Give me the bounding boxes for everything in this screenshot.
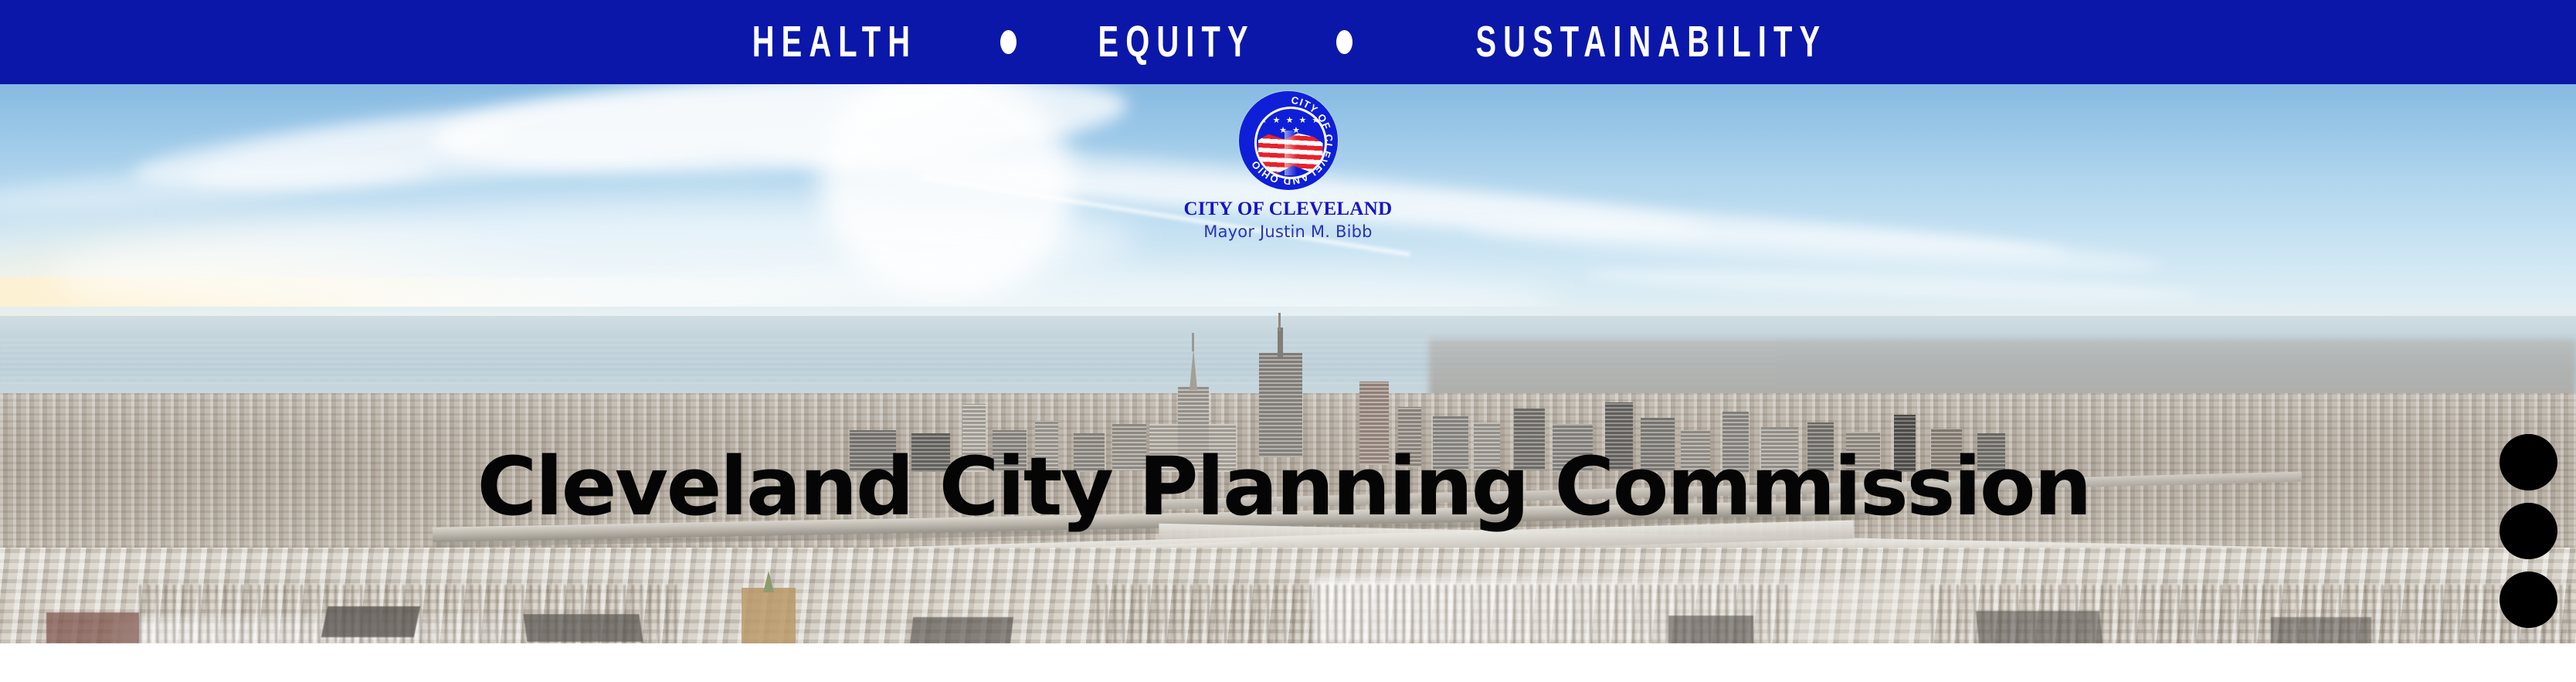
social-media-rail xyxy=(2500,434,2557,628)
mayor-name: Mayor Justin M. Bibb xyxy=(1203,222,1372,241)
flag-fold-highlight xyxy=(1285,131,1297,175)
rooftop-cluster xyxy=(1976,611,2103,643)
rooftop-cluster xyxy=(321,606,421,637)
seal-inner-disc: ★ ★ ★ ★ ★ ★ ★ xyxy=(1254,107,1327,179)
facebook-icon[interactable] xyxy=(2500,572,2557,628)
page-title: Cleveland City Planning Commission xyxy=(0,446,2571,527)
page-title-text: Cleveland City Planning Commission xyxy=(477,446,2090,527)
tagline-word-sustainability: SUSTAINABILITY xyxy=(1476,20,1828,64)
rooftop-cluster xyxy=(910,617,1013,643)
tagline-banner: HEALTH EQUITY SUSTAINABILITY xyxy=(0,0,2576,84)
rooftop-cluster xyxy=(523,614,643,642)
tagline-bullet-dot-2 xyxy=(1336,30,1352,54)
bottom-white-margin xyxy=(0,643,2576,682)
city-of-cleveland-seal-icon[interactable]: CITY OF CLEVELAND OHIO ★ ★ ★ ★ ★ ★ ★ xyxy=(1239,91,1338,190)
organization-name: CITY OF CLEVELAND xyxy=(1184,198,1393,220)
youtube-icon[interactable] xyxy=(2500,434,2557,490)
city-logo-lockup[interactable]: CITY OF CLEVELAND OHIO ★ ★ ★ ★ ★ ★ ★ CIT… xyxy=(0,91,2576,241)
rooftop-cluster xyxy=(2271,617,2371,643)
terminal-tower-mast xyxy=(1192,333,1194,351)
tagline-inner: HEALTH EQUITY SUSTAINABILITY xyxy=(717,20,1902,64)
tagline-word-health: HEALTH xyxy=(752,20,917,64)
page-root: HEALTH EQUITY SUSTAINABILITY xyxy=(0,0,2576,682)
church-building xyxy=(742,588,796,643)
instagram-icon[interactable] xyxy=(2500,503,2557,559)
key-tower-spire xyxy=(1278,327,1283,357)
rooftop-cluster xyxy=(46,612,139,643)
key-tower-mast xyxy=(1278,313,1281,331)
rooftop-cluster xyxy=(1668,616,1753,643)
tagline-bullet-dot-1 xyxy=(1000,30,1016,54)
tagline-word-equity: EQUITY xyxy=(1098,20,1255,64)
